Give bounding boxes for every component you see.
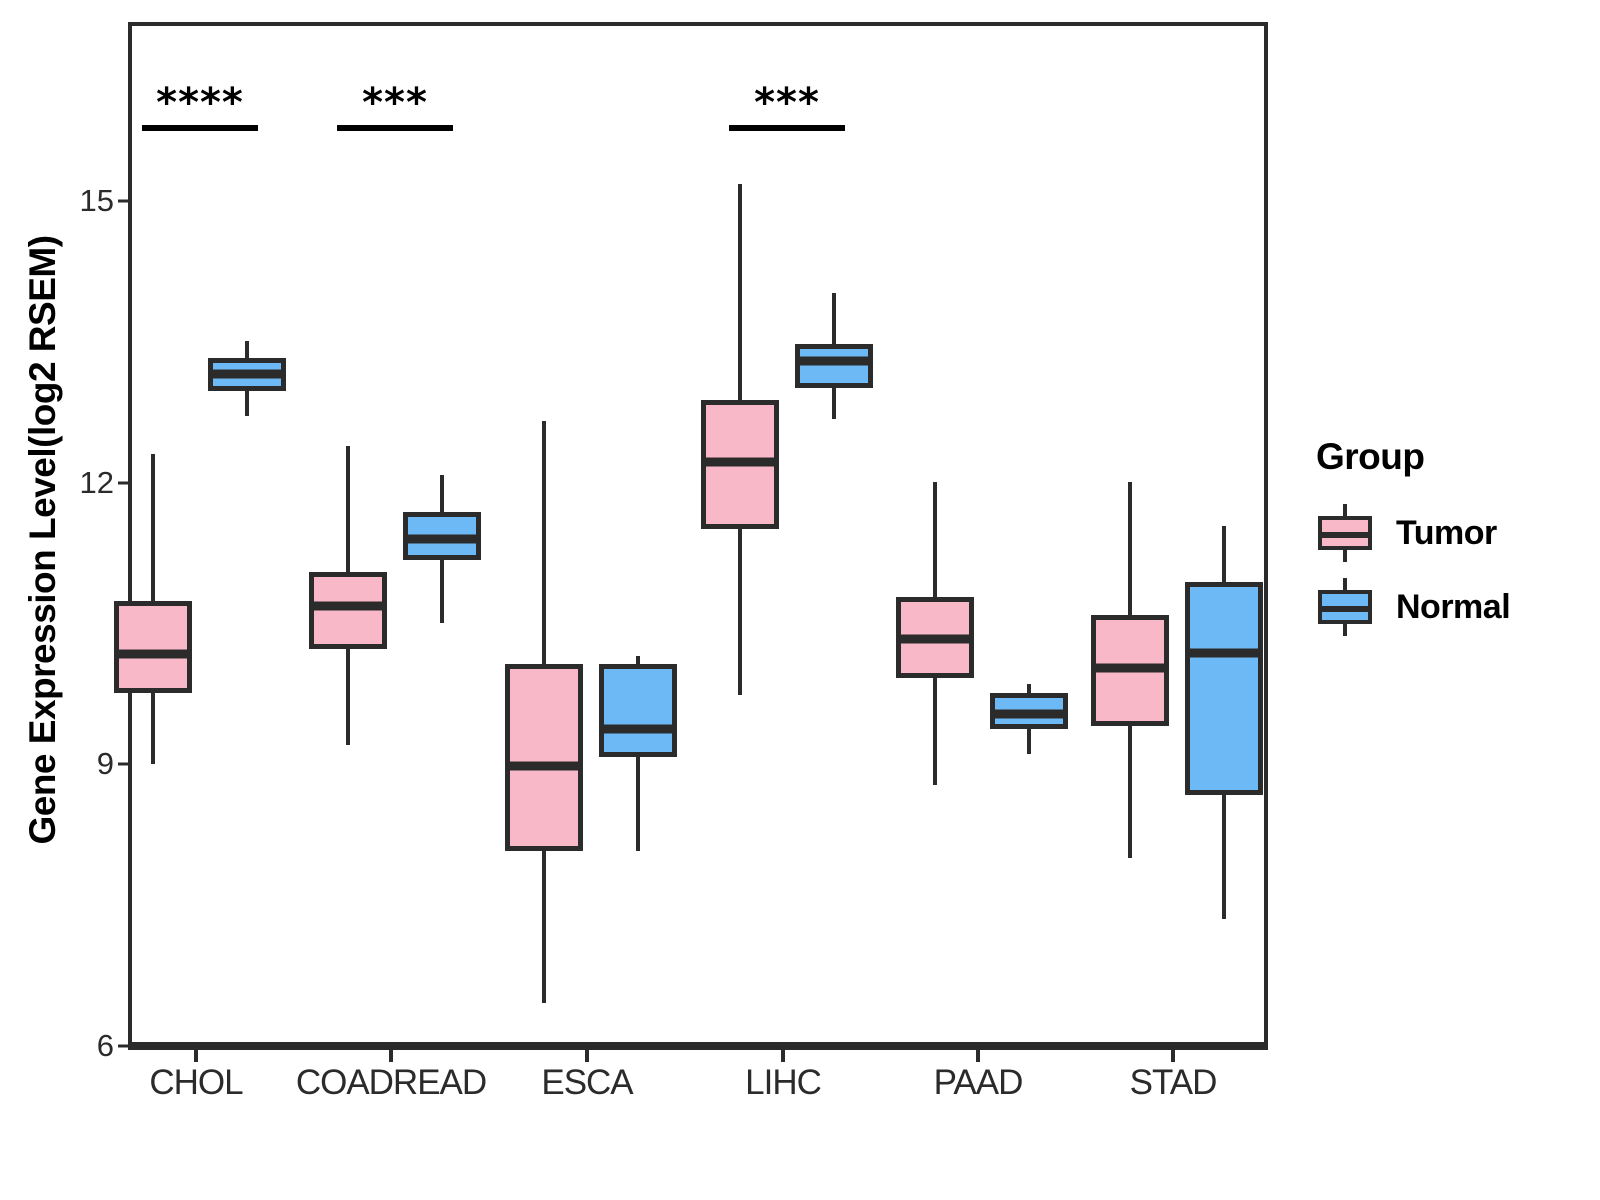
legend-whisker-lower xyxy=(1343,548,1347,562)
whisker-lower xyxy=(1027,729,1031,754)
significance-stars: **** xyxy=(142,83,258,123)
y-axis-tick-labels: 691215 xyxy=(64,0,114,1200)
legend-label: Normal xyxy=(1396,588,1510,627)
x-axis-tick-label-paad: PAAD xyxy=(934,1063,1023,1103)
legend-title: Group xyxy=(1316,436,1576,478)
y-axis-tick-label: 12 xyxy=(64,465,114,501)
boxplot-box[interactable] xyxy=(403,26,481,1042)
legend-median-line xyxy=(1318,606,1372,612)
legend-label: Tumor xyxy=(1396,514,1497,553)
boxplot-box[interactable] xyxy=(795,26,873,1042)
boxplot-box[interactable] xyxy=(208,26,286,1042)
box-iqr-rect xyxy=(1185,582,1263,794)
whisker-upper xyxy=(738,184,742,400)
legend-median-line xyxy=(1318,532,1372,538)
boxplot-box[interactable] xyxy=(114,26,192,1042)
legend-key-swatch xyxy=(1316,504,1374,562)
whisker-lower xyxy=(1128,726,1132,857)
median-line xyxy=(1091,663,1169,672)
box-iqr-rect xyxy=(599,664,677,757)
box-iqr-rect xyxy=(114,601,192,693)
x-axis-line xyxy=(128,1046,1268,1050)
significance-stars: *** xyxy=(729,83,845,123)
boxplot-box[interactable] xyxy=(309,26,387,1042)
boxplot-box[interactable] xyxy=(599,26,677,1042)
whisker-lower xyxy=(1222,795,1226,919)
median-line xyxy=(114,649,192,658)
box-iqr-rect xyxy=(795,344,873,388)
median-line xyxy=(309,601,387,610)
whisker-upper xyxy=(832,293,836,344)
y-axis-tick-label: 9 xyxy=(64,746,114,782)
y-axis-tick-label: 15 xyxy=(64,183,114,219)
y-axis-tick-label: 6 xyxy=(64,1028,114,1064)
boxplot-box[interactable] xyxy=(990,26,1068,1042)
boxplot-box[interactable] xyxy=(701,26,779,1042)
median-line xyxy=(896,634,974,643)
whisker-lower xyxy=(636,757,640,851)
median-line xyxy=(208,370,286,379)
median-line xyxy=(1185,648,1263,657)
median-line xyxy=(599,724,677,733)
legend-whisker-lower xyxy=(1343,622,1347,636)
x-axis-tick-mark xyxy=(194,1050,198,1062)
whisker-upper xyxy=(933,482,937,597)
median-line xyxy=(505,761,583,770)
boxplot-box[interactable] xyxy=(1185,26,1263,1042)
whisker-lower xyxy=(151,693,155,763)
median-line xyxy=(795,356,873,365)
whisker-lower xyxy=(245,391,249,416)
x-axis-tick-mark xyxy=(585,1050,589,1062)
boxplot-figure: Gene Expression Level(log2 RSEM) 691215 … xyxy=(0,0,1600,1200)
median-line xyxy=(990,709,1068,718)
significance-bar xyxy=(729,125,845,131)
significance-stars: *** xyxy=(337,83,453,123)
x-axis-tick-label-stad: STAD xyxy=(1130,1063,1217,1103)
legend-item-tumor[interactable]: Tumor xyxy=(1316,502,1576,564)
boxplot-box[interactable] xyxy=(505,26,583,1042)
whisker-upper xyxy=(1027,684,1031,693)
whisker-lower xyxy=(440,560,444,623)
significance-bar xyxy=(337,125,453,131)
box-iqr-rect xyxy=(309,572,387,649)
whisker-upper xyxy=(1128,482,1132,615)
whisker-upper xyxy=(542,421,546,664)
whisker-lower xyxy=(542,851,546,1003)
plot-panel: ********** xyxy=(128,22,1268,1046)
whisker-upper xyxy=(440,475,444,512)
whisker-upper xyxy=(1222,526,1226,582)
legend-item-normal[interactable]: Normal xyxy=(1316,576,1576,638)
whisker-lower xyxy=(346,649,350,745)
x-axis-tick-label-chol: CHOL xyxy=(149,1063,242,1103)
x-axis-tick-label-lihc: LIHC xyxy=(745,1063,821,1103)
x-axis-tick-mark xyxy=(1171,1050,1175,1062)
significance-bar xyxy=(142,125,258,131)
box-iqr-rect xyxy=(505,664,583,851)
x-axis-tick-mark xyxy=(389,1050,393,1062)
median-line xyxy=(403,535,481,544)
whisker-upper xyxy=(346,446,350,572)
x-axis-tick-mark xyxy=(781,1050,785,1062)
whisker-upper xyxy=(245,341,249,358)
legend-key-swatch xyxy=(1316,578,1374,636)
whisker-lower xyxy=(933,678,937,785)
x-axis-tick-label-coadread: COADREAD xyxy=(296,1063,486,1103)
whisker-upper xyxy=(636,656,640,664)
x-axis-tick-mark xyxy=(976,1050,980,1062)
legend: Group TumorNormal xyxy=(1316,436,1576,650)
boxplot-box[interactable] xyxy=(1091,26,1169,1042)
legend-entries: TumorNormal xyxy=(1316,502,1576,638)
whisker-lower xyxy=(738,529,742,695)
x-axis-tick-label-esca: ESCA xyxy=(541,1063,632,1103)
boxplot-box[interactable] xyxy=(896,26,974,1042)
median-line xyxy=(701,458,779,467)
whisker-lower xyxy=(832,388,836,419)
plot-area: ********** xyxy=(132,26,1264,1042)
whisker-upper xyxy=(151,454,155,601)
